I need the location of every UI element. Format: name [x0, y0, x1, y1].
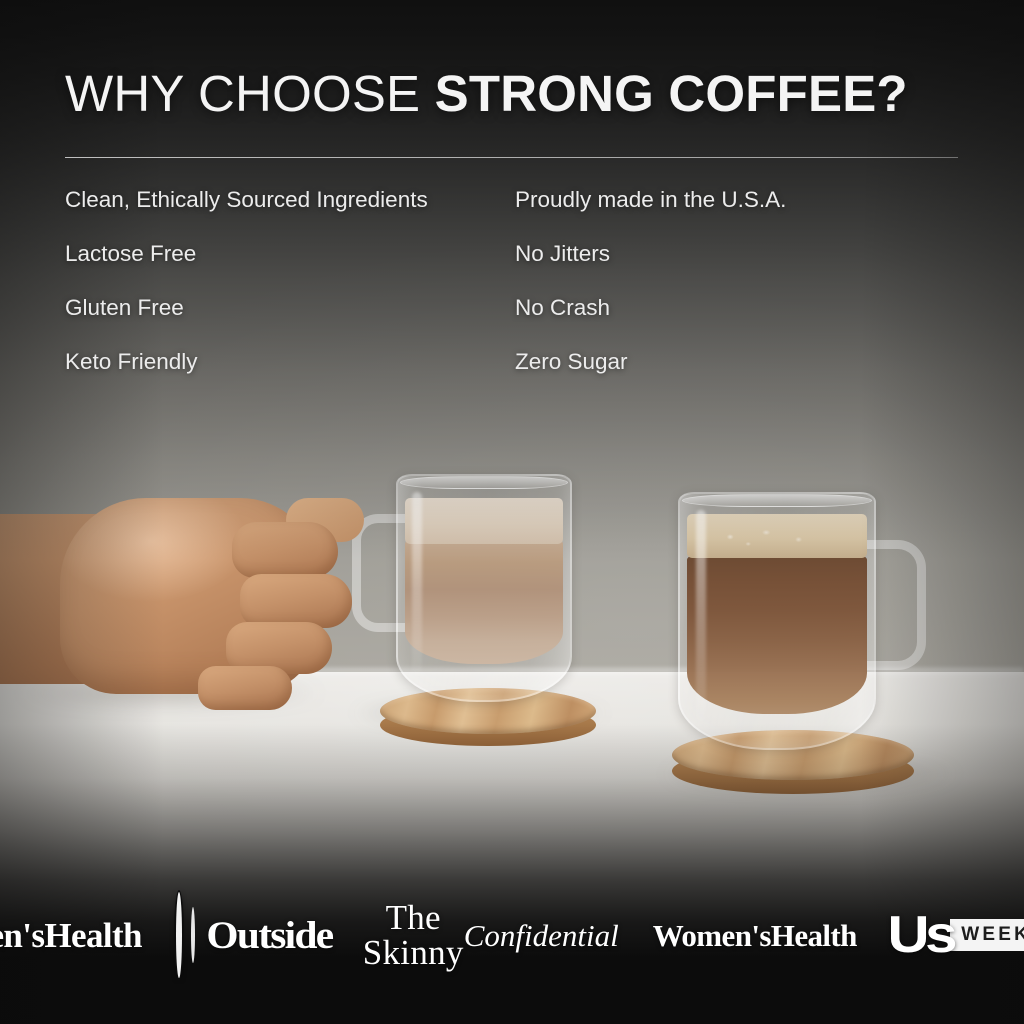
divider — [65, 157, 958, 158]
weekly-box: WEEKLY — [950, 919, 1024, 951]
feature-item: Keto Friendly — [65, 345, 515, 399]
womens-health-logo: Women'sHealth — [653, 920, 857, 951]
page-title: WHY CHOOSE STRONG COFFEE? — [65, 64, 908, 123]
headline-light: WHY CHOOSE — [65, 65, 435, 122]
feature-item: No Jitters — [515, 237, 965, 291]
us-mark: Us — [887, 914, 953, 957]
us-weekly-logo: Us WEEKLY — [891, 914, 1024, 957]
feature-item: Zero Sugar — [515, 345, 965, 399]
third-eye-icon — [191, 916, 195, 921]
feature-item: Proudly made in the U.S.A. — [515, 183, 965, 237]
feature-column-right: Proudly made in the U.S.A. No Jitters No… — [515, 183, 965, 399]
outside-logo: Outside — [206, 913, 332, 958]
press-logo-row: Men'sHealth — [0, 890, 1024, 980]
feature-item: No Crash — [515, 291, 965, 345]
content-layer: WHY CHOOSE STRONG COFFEE? Clean, Ethical… — [0, 0, 1024, 1024]
feature-item: Gluten Free — [65, 291, 515, 345]
headline-bold: STRONG COFFEE? — [435, 65, 908, 122]
feature-item: Lactose Free — [65, 237, 515, 291]
feature-list: Clean, Ethically Sourced Ingredients Lac… — [65, 183, 965, 399]
promo-canvas: WHY CHOOSE STRONG COFFEE? Clean, Ethical… — [0, 0, 1024, 1024]
mouth — [191, 942, 195, 951]
mens-health-logo: Men'sHealth — [0, 918, 142, 953]
skinny-line-2: Confidential — [464, 920, 619, 951]
feature-item: Clean, Ethically Sourced Ingredients — [65, 183, 515, 237]
badge-ring — [176, 892, 182, 978]
skinny-line-1: The Skinny — [363, 900, 464, 970]
feature-column-left: Clean, Ethically Sourced Ingredients Lac… — [65, 183, 515, 399]
face-icon — [191, 914, 195, 958]
badge-inner — [191, 907, 195, 963]
the-skinny-confidential-logo: The Skinny Confidential — [363, 900, 619, 970]
